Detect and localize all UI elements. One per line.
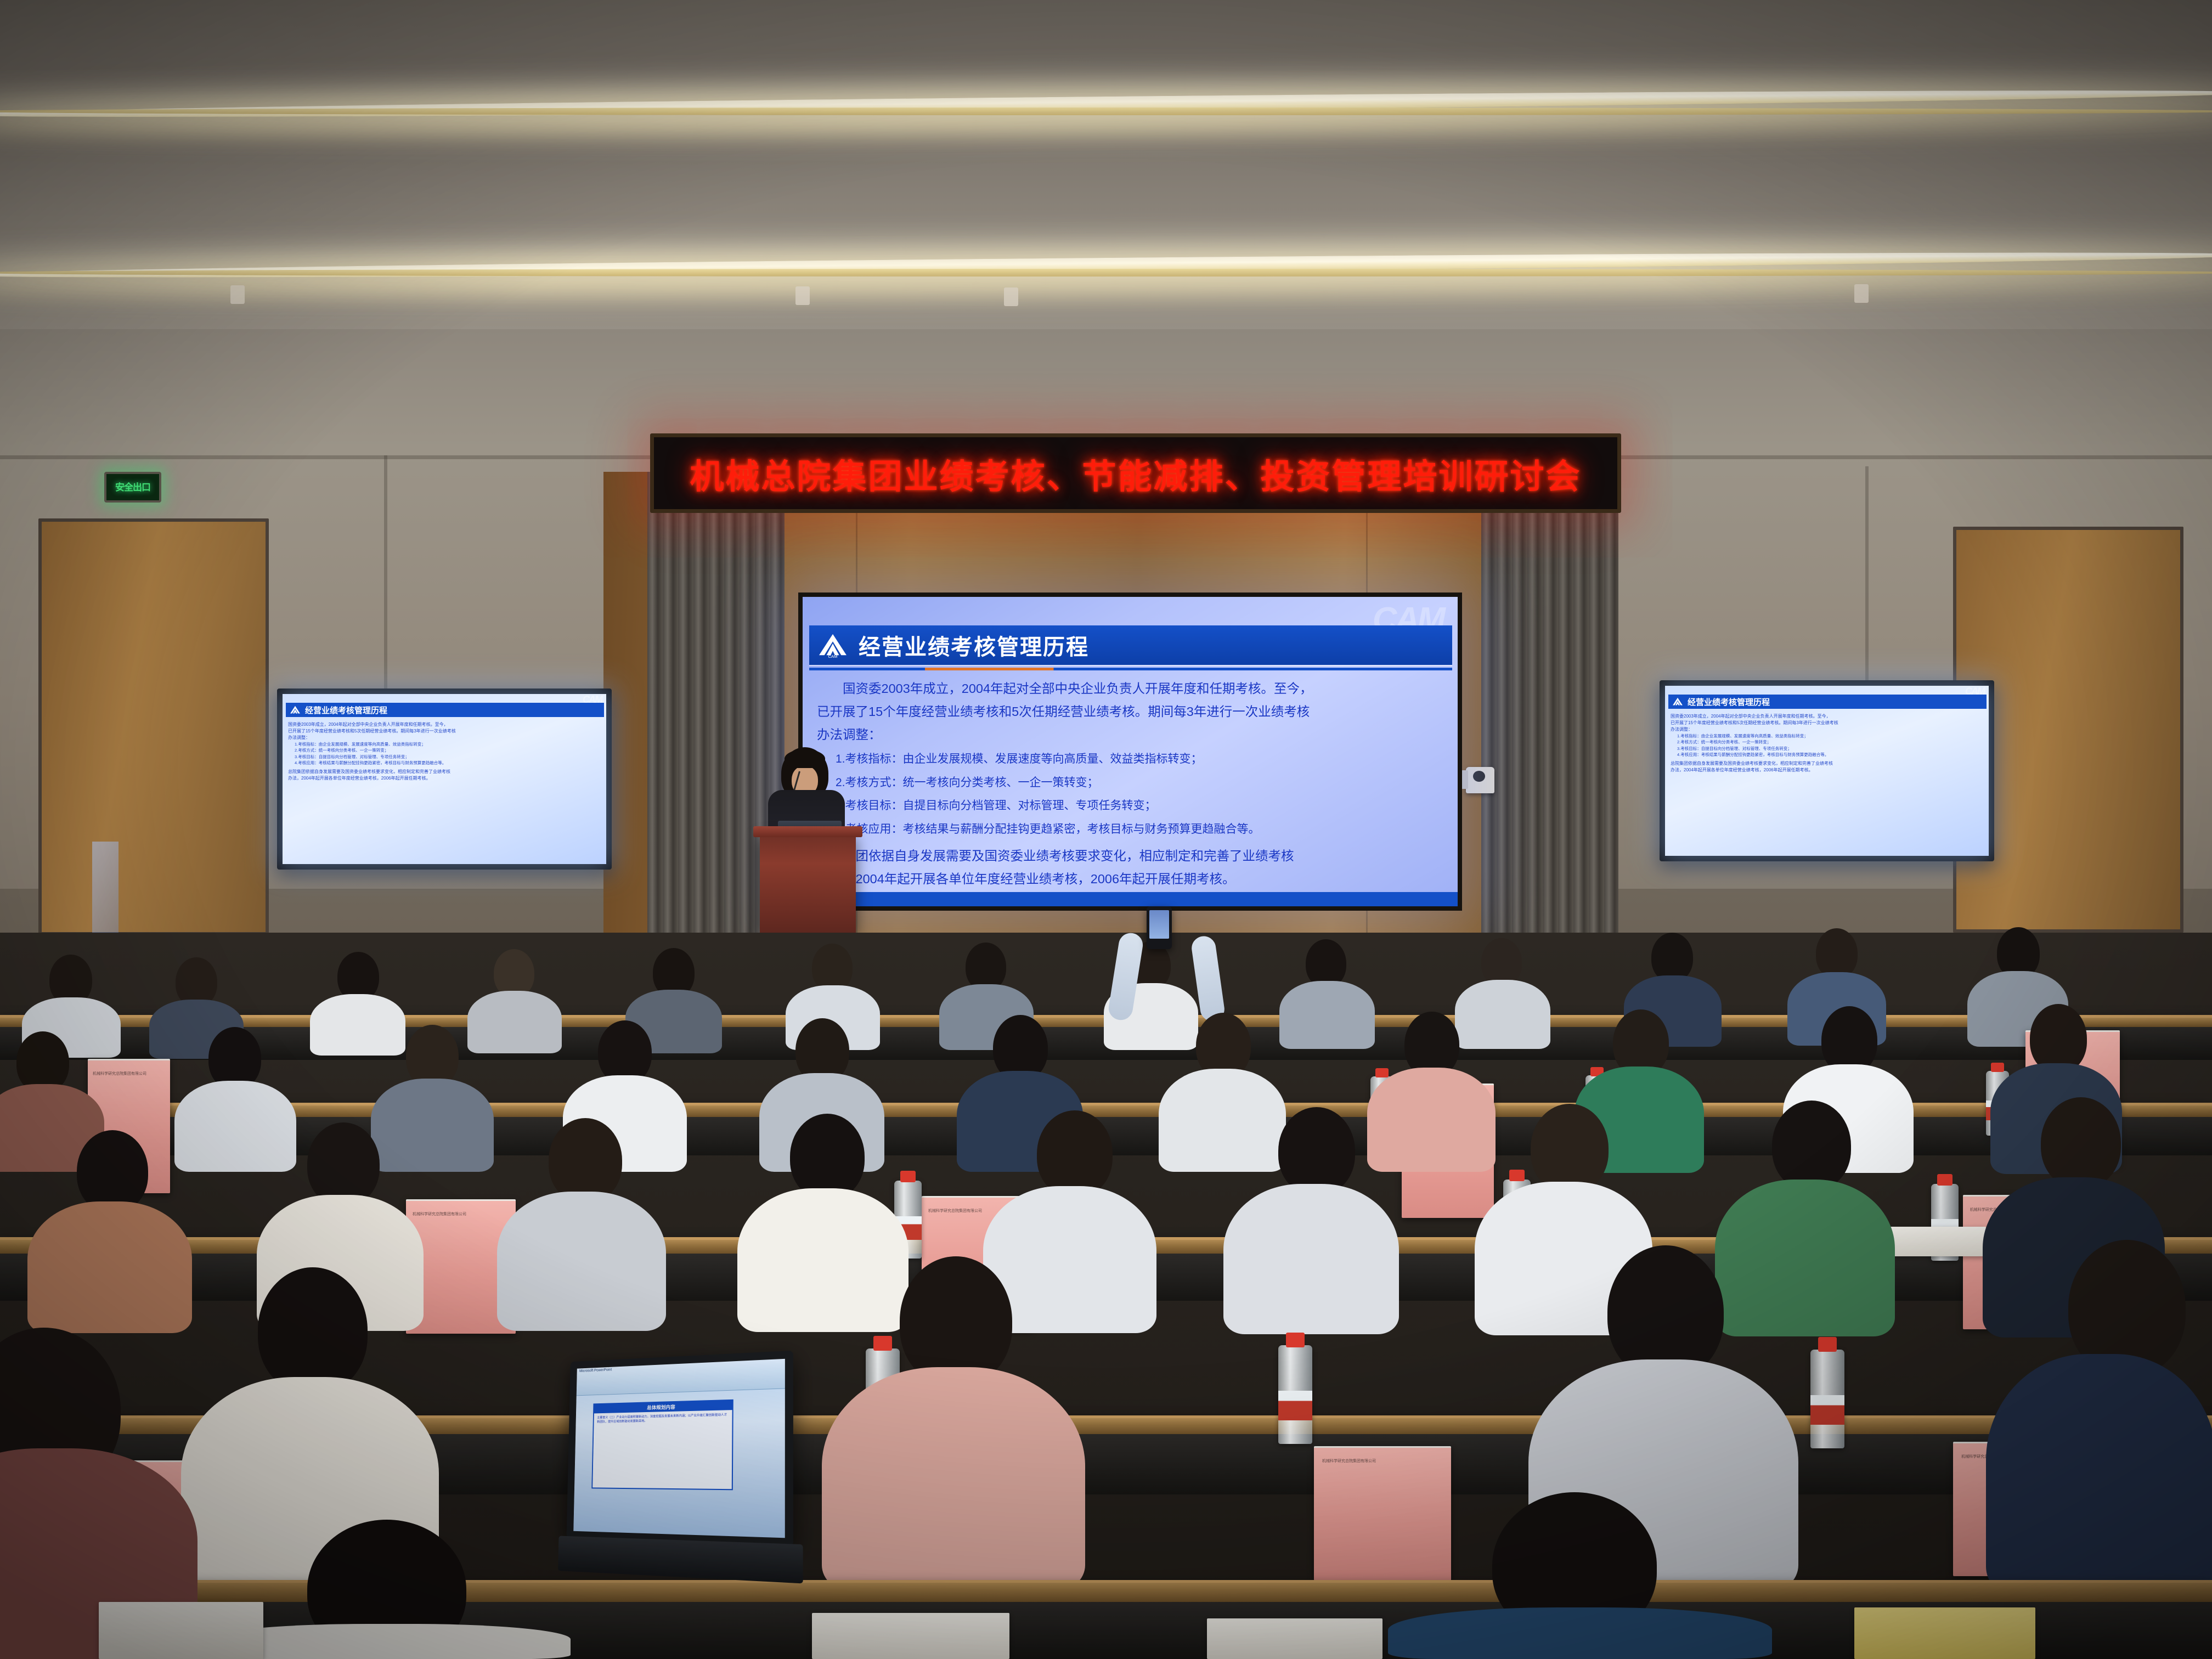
attendee-head	[2041, 1097, 2121, 1188]
attendee-head	[1651, 933, 1693, 982]
podium-top	[753, 826, 862, 837]
attendee-head	[1306, 939, 1346, 988]
name-card-org: 机械科学研究总院集团有限公司	[1322, 1458, 1376, 1464]
water-bottle	[1810, 1350, 1844, 1448]
attendee-torso	[1986, 1354, 2212, 1595]
attendee-head	[1037, 1110, 1113, 1197]
name-card-name: 蔡丁华	[944, 1196, 1009, 1198]
attendee-torso	[737, 1188, 909, 1332]
ptz-camera-icon	[1466, 767, 1494, 793]
main-projection-screen: CAM CAM 经营业绩考核管理历程 国资委2003年成立，2004年起对全部中…	[798, 592, 1462, 911]
name-card-org: 机械科学研究总院集团有限公司	[413, 1211, 466, 1217]
powerpoint-slide-text: 主要意义（二）产业动力层面积聚新动力，深度挖掘及发展未来新内涵；以产业升级汇聚创…	[594, 1410, 732, 1427]
powerpoint-toolbar[interactable]: Microsoft PowerPoint	[577, 1359, 785, 1396]
name-card-org: 机械科学研究总院集团有限公司	[93, 1071, 146, 1076]
attendee-head	[1278, 1107, 1355, 1195]
ceiling-cove-light-1	[0, 86, 2212, 122]
slide-bullet: 2.考核方式：统一考核向分类考核、一企一策转变；	[836, 774, 1448, 792]
led-banner-text: 机械总院集团业绩考核、节能减排、投资管理培训研讨会	[690, 449, 1581, 498]
monitor-title-bar: 经营业绩考核管理历程	[1668, 695, 1987, 709]
attendee-torso	[1159, 1069, 1286, 1172]
name-card-org: 机械科学研究总院集团有限公司	[928, 1208, 982, 1214]
handout-paper	[99, 1602, 263, 1659]
attendee-torso	[822, 1367, 1085, 1592]
ceiling-cove-light-1b	[0, 108, 2212, 115]
attendee-torso	[1455, 980, 1550, 1049]
monitor-bullet: 2.考核方式：统一考核向分类考核、一企一策转变；	[295, 747, 602, 753]
monitor-bullet: 3.考核目标：自提目标向分档管理、对标管理、专项任务转变；	[1677, 746, 1984, 752]
ceiling	[0, 0, 2212, 362]
left-monitor-screen: CAM 经营业绩考核管理历程 国资委2003年成立，2004年起对全部中央企业负…	[283, 694, 606, 864]
slide-paragraph: 已开展了15个年度经营业绩考核和5次任期经营业绩考核。期间每3年进行一次业绩考核	[817, 701, 1448, 722]
attendee-head	[549, 1118, 622, 1203]
monitor-title-bar: 经营业绩考核管理历程	[286, 703, 604, 717]
attendee-torso	[310, 994, 405, 1056]
exit-sign-label: 安全出口	[115, 483, 150, 492]
cam-logo-icon	[289, 705, 301, 715]
attendee-head	[812, 944, 853, 992]
attendee-torso	[174, 1081, 296, 1172]
foreground-laptop[interactable]: Microsoft PowerPoint 总体规划内容 主要意义（二）产业动力层…	[566, 1351, 793, 1582]
monitor-bullet: 4.考核应用：考核结果与薪酬分配挂钩更趋紧密，考核目标与财务预算更趋融合等。	[295, 760, 602, 766]
attendee-head	[598, 1020, 652, 1084]
attendee-head	[1531, 1104, 1609, 1193]
attendee-torso	[1388, 1607, 1772, 1659]
right-monitor-screen: CAM 经营业绩考核管理历程 国资委2003年成立，2004年起对全部中央企业负…	[1665, 686, 1989, 856]
laptop-lid: Microsoft PowerPoint 总体规划内容 主要意义（二）产业动力层…	[567, 1351, 793, 1547]
monitor-line: 办法调整：	[288, 735, 602, 741]
attendee-head	[307, 1122, 380, 1206]
attendee-torso	[467, 991, 562, 1053]
monitor-line: 国资委2003年成立，2004年起对全部中央企业负责人开展年度和任期考核。至今，	[288, 721, 602, 728]
podium	[760, 834, 856, 933]
monitor-line: 已开展了15个年度经营业绩考核和5次任期经营业绩考核。期间每3年进行一次业绩考核	[288, 728, 602, 735]
name-card-name: 滕 旭	[1340, 1446, 1425, 1448]
attendee-head	[790, 1114, 865, 1199]
podium-glass-panel	[92, 842, 119, 934]
slide-paragraph: 办法调整：	[817, 724, 1448, 745]
ceiling-spotlight	[230, 285, 245, 304]
monitor-slide-body: 国资委2003年成立，2004年起对全部中央企业负责人开展年度和任期考核。至今，…	[288, 721, 602, 782]
slide-closing: 办法，2004年起开展各单位年度经营业绩考核，2006年起开展任期考核。	[817, 868, 1448, 889]
attendee-torso	[497, 1192, 666, 1331]
monitor-slide-title: 经营业绩考核管理历程	[1688, 696, 1770, 708]
slide-title-bar: CAM 经营业绩考核管理历程	[809, 625, 1452, 665]
slide-paragraph: 国资委2003年成立，2004年起对全部中央企业负责人开展年度和任期考核。至今，	[817, 678, 1448, 699]
slide-bullet: 4.考核应用：考核结果与薪酬分配挂钩更趋紧密，考核目标与财务预算更趋融合等。	[836, 820, 1448, 839]
monitor-line: 办法调整：	[1671, 726, 1984, 733]
stage-curtain-right	[1481, 472, 1618, 988]
monitor-bullet: 4.考核应用：考核结果与薪酬分配挂钩更趋紧密，考核目标与财务预算更趋融合等。	[1677, 752, 1984, 758]
slide-title: 经营业绩考核管理历程	[859, 629, 1089, 661]
exit-door-left[interactable]	[38, 518, 269, 935]
water-bottle	[1278, 1345, 1312, 1444]
left-side-monitor: CAM 经营业绩考核管理历程 国资委2003年成立，2004年起对全部中央企业负…	[277, 689, 612, 870]
monitor-line: 总院集团依据自身发展需要及国资委业绩考核要求变化，相应制定和完善了业绩考核	[1671, 760, 1984, 767]
monitor-line: 总院集团依据自身发展需要及国资委业绩考核要求变化，相应制定和完善了业绩考核	[288, 769, 602, 775]
smartphone-icon[interactable]	[1147, 906, 1172, 949]
emergency-exit-sign: 安全出口	[104, 472, 161, 503]
handout-paper	[1207, 1618, 1383, 1659]
attendee-torso	[1279, 981, 1375, 1049]
monitor-line: 国资委2003年成立，2004年起对全部中央企业负责人开展年度和任期考核。至今，	[1671, 713, 1984, 720]
cam-logo-icon: CAM	[816, 632, 850, 658]
slide-body: 国资委2003年成立，2004年起对全部中央企业负责人开展年度和任期考核。至今，…	[817, 678, 1448, 891]
monitor-bullet: 3.考核目标：自提目标向分档管理、对标管理、专项任务转变；	[295, 754, 602, 760]
ceiling-spotlight	[1004, 287, 1018, 306]
attendee-torso	[1367, 1068, 1496, 1172]
ceiling-cove-light-2b	[0, 269, 2212, 276]
attendee-head	[406, 1025, 459, 1087]
right-side-monitor: CAM 经营业绩考核管理历程 国资委2003年成立，2004年起对全部中央企业负…	[1660, 680, 1994, 861]
attendee-head	[208, 1027, 261, 1090]
slide-footer-bar	[803, 892, 1458, 906]
monitor-line: 办法，2004年起开展各单位年度经营业绩考核，2006年起开展任期考核。	[1671, 767, 1984, 774]
led-banner: 机械总院集团业绩考核、节能减排、投资管理培训研讨会	[650, 433, 1621, 513]
monitor-bullet: 2.考核方式：统一考核向分类考核、一企一策转变；	[1677, 739, 1984, 745]
ceiling-spotlight	[795, 286, 810, 305]
slide-bullet: 1.考核指标：由企业发展规模、发展速度等向高质量、效益类指标转变；	[836, 750, 1448, 769]
name-card-name: 赵钰佳	[428, 1199, 494, 1201]
slide-bullet: 3.考核目标：自提目标向分档管理、对标管理、专项任务转变；	[836, 797, 1448, 815]
attendee-torso	[27, 1201, 192, 1333]
notepad	[1854, 1607, 2035, 1659]
monitor-slide-body: 国资委2003年成立，2004年起对全部中央企业负责人开展年度和任期考核。至今，…	[1671, 713, 1984, 774]
attendee-head	[966, 943, 1006, 991]
slide-closing: 总院集团依据自身发展需要及国资委业绩考核要求变化，相应制定和完善了业绩考核	[817, 845, 1448, 866]
monitor-line: 办法，2004年起开展各单位年度经营业绩考核，2006年起开展任期考核。	[288, 775, 602, 782]
attendee-head	[494, 949, 534, 997]
attendee-head	[1816, 928, 1858, 979]
name-card-name: 李	[100, 1059, 158, 1060]
attendee-head	[77, 1130, 148, 1212]
attendee-torso	[1715, 1180, 1895, 1336]
attendee-head	[1481, 938, 1522, 986]
conference-photo: 安全出口 机械总院集团业绩考核、节能减排、投资管理培训研讨会 CAM CAM 经…	[0, 0, 2212, 1659]
ceiling-cove-light-2	[0, 248, 2212, 283]
svg-text:CAM: CAM	[828, 654, 837, 658]
attendee-head	[900, 1256, 1012, 1386]
attendee-head	[1772, 1101, 1851, 1190]
name-card: 机械科学研究总院集团有限公司 滕 旭	[1314, 1446, 1451, 1581]
monitor-bullet: 1.考核指标：由企业发展规模、发展速度等向高质量、效益类指标转变；	[295, 741, 602, 747]
attendee-torso	[1223, 1184, 1399, 1334]
monitor-slide-title: 经营业绩考核管理历程	[305, 704, 387, 716]
attendee-torso	[371, 1079, 494, 1172]
attendee-head	[258, 1267, 368, 1393]
laptop-screen: Microsoft PowerPoint 总体规划内容 主要意义（二）产业动力层…	[573, 1359, 785, 1538]
speaker-bangs	[785, 749, 825, 768]
monitor-line: 已开展了15个年度经营业绩考核和5次任期经营业绩考核。期间每3年进行一次业绩考核	[1671, 720, 1984, 726]
ceiling-spotlight	[1854, 284, 1869, 303]
cam-logo-icon	[1672, 697, 1684, 707]
powerpoint-slide: 总体规划内容 主要意义（二）产业动力层面积聚新动力，深度挖掘及发展未来新内涵；以…	[592, 1399, 733, 1490]
powerpoint-caption: Microsoft PowerPoint	[577, 1359, 785, 1373]
monitor-bullet: 1.考核指标：由企业发展规模、发展速度等向高质量、效益类指标转变；	[1677, 733, 1984, 739]
handout-paper	[812, 1613, 1009, 1659]
